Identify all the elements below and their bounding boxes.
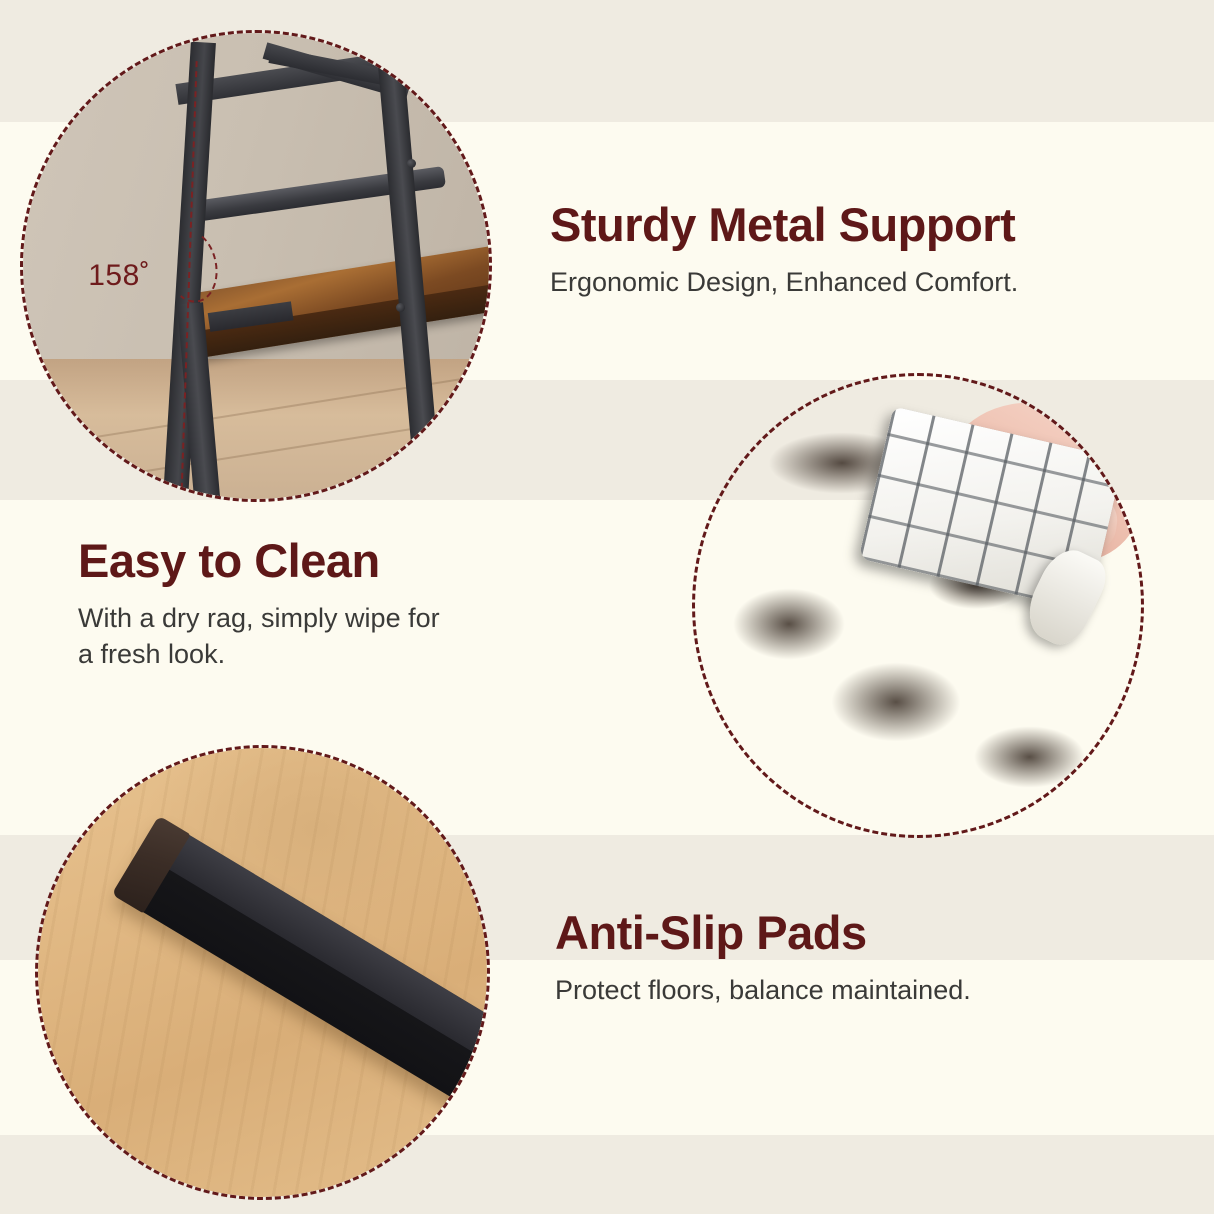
heading-sturdy-metal-support: Sturdy Metal Support [550, 200, 1018, 251]
feature-text-sturdy-metal-support: Sturdy Metal Support Ergonomic Design, E… [550, 200, 1018, 300]
photo-metal-support: 158˚ [20, 30, 492, 502]
wood-knot [829, 661, 963, 744]
subtitle-anti-slip-pads: Protect floors, balance maintained. [555, 972, 971, 1008]
photo-metal-support-inner: 158˚ [23, 33, 489, 499]
angle-label: 158˚ [88, 259, 150, 293]
wood-knot [972, 725, 1088, 789]
photo-wood-tabletop-inner [695, 376, 1141, 835]
feature-text-easy-to-clean: Easy to Clean With a dry rag, simply wip… [78, 536, 548, 672]
wood-knot [731, 587, 847, 660]
photo-anti-slip-pad-inner [38, 748, 487, 1197]
subtitle-easy-to-clean-line2: a fresh look. [78, 636, 548, 672]
screw-icon [396, 303, 405, 312]
subtitle-sturdy-metal-support: Ergonomic Design, Enhanced Comfort. [550, 264, 1018, 300]
feature-text-anti-slip-pads: Anti-Slip Pads Protect floors, balance m… [555, 908, 971, 1008]
subtitle-easy-to-clean-line1: With a dry rag, simply wipe for [78, 600, 548, 636]
heading-anti-slip-pads: Anti-Slip Pads [555, 908, 971, 959]
heading-easy-to-clean: Easy to Clean [78, 536, 548, 587]
photo-wood-tabletop-wipe [692, 373, 1144, 838]
photo-anti-slip-pad [35, 745, 490, 1200]
